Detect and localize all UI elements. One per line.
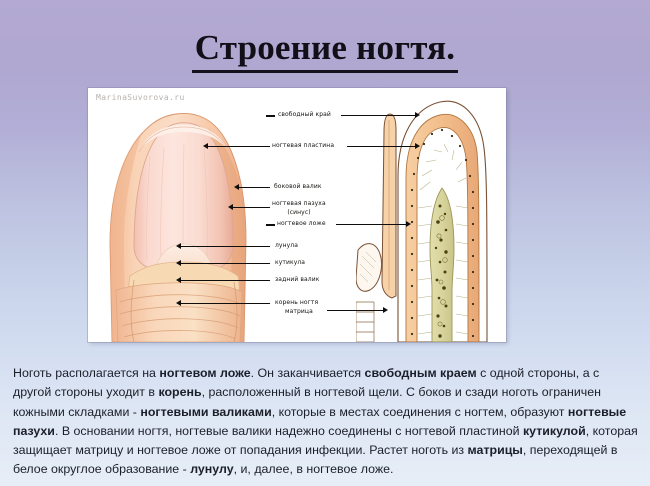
leader-line-nail-plate-left (208, 146, 270, 147)
paragraph-term: ногтевыми валиками (140, 405, 271, 419)
label-nail-plate: ногтевая пластина (272, 142, 334, 150)
paragraph-run: , и, далее, в ногтевое ложе. (234, 462, 394, 476)
nail-anatomy-figure: MarinaSuvorova.ru (88, 88, 506, 342)
label-matrix: матрица (285, 308, 313, 316)
arrow-free-edge (415, 112, 420, 118)
leader-line-nail-sinus (233, 207, 270, 208)
page-title: Строение ногтя. (0, 28, 650, 73)
leader-line-nail-bed (336, 224, 406, 225)
label-nail-sinus: ногтевая пазуха (272, 200, 326, 208)
arrow-matrix (383, 307, 388, 313)
label-nail-bed: ногтевое ложе (277, 220, 326, 228)
nail-cross-section (356, 90, 506, 342)
paragraph-run: , которые в местах соединения с ногтем, … (272, 405, 568, 419)
leader-line-matrix (327, 310, 383, 311)
paragraph-term: свободным краем (365, 366, 477, 380)
cross-section-svg (356, 90, 506, 342)
paragraph-term: матрицы (468, 443, 523, 457)
leader-line-lunula (181, 246, 270, 247)
label-cuticle: кутикула (275, 259, 305, 267)
arrow-nail-plate-right (415, 143, 420, 149)
leader-line-nail-plate-right (347, 146, 415, 147)
label-lateral-fold: боковой валик (274, 183, 322, 191)
paragraph-term: корень (158, 385, 201, 399)
paragraph-term: кутикулой (523, 424, 586, 438)
paragraph-run: Ноготь располагается на (13, 366, 159, 380)
paragraph-term: ногтевом ложе (159, 366, 250, 380)
leader-line-cuticle (181, 263, 270, 264)
leader-line-posterior-fold (181, 280, 270, 281)
paragraph-run: . Он заканчивается (251, 366, 365, 380)
leader-line-lateral-fold (239, 187, 270, 188)
label-nail-root: корень ногтя (275, 299, 318, 307)
description-paragraph: Ноготь располагается на ногтевом ложе. О… (13, 364, 639, 479)
leader-line-nail-root (181, 303, 270, 304)
label-posterior-fold: задний валик (275, 276, 319, 284)
paragraph-run: . В основании ногтя, ногтевые валики над… (55, 424, 523, 438)
slide-root: Строение ногтя. MarinaSuvorova.ru (0, 0, 650, 486)
paragraph-term: лунулу (190, 462, 233, 476)
page-title-text: Строение ногтя. (192, 28, 459, 73)
arrow-nail-bed (406, 221, 411, 227)
label-nail-sinus-sub: (синус) (272, 209, 326, 217)
label-lunula: лунула (275, 242, 298, 250)
label-free-edge: свободный край (278, 111, 331, 119)
leader-dash-free-edge (266, 115, 275, 117)
leader-dash-nail-bed (266, 224, 275, 226)
leader-line-free-edge (341, 115, 415, 116)
